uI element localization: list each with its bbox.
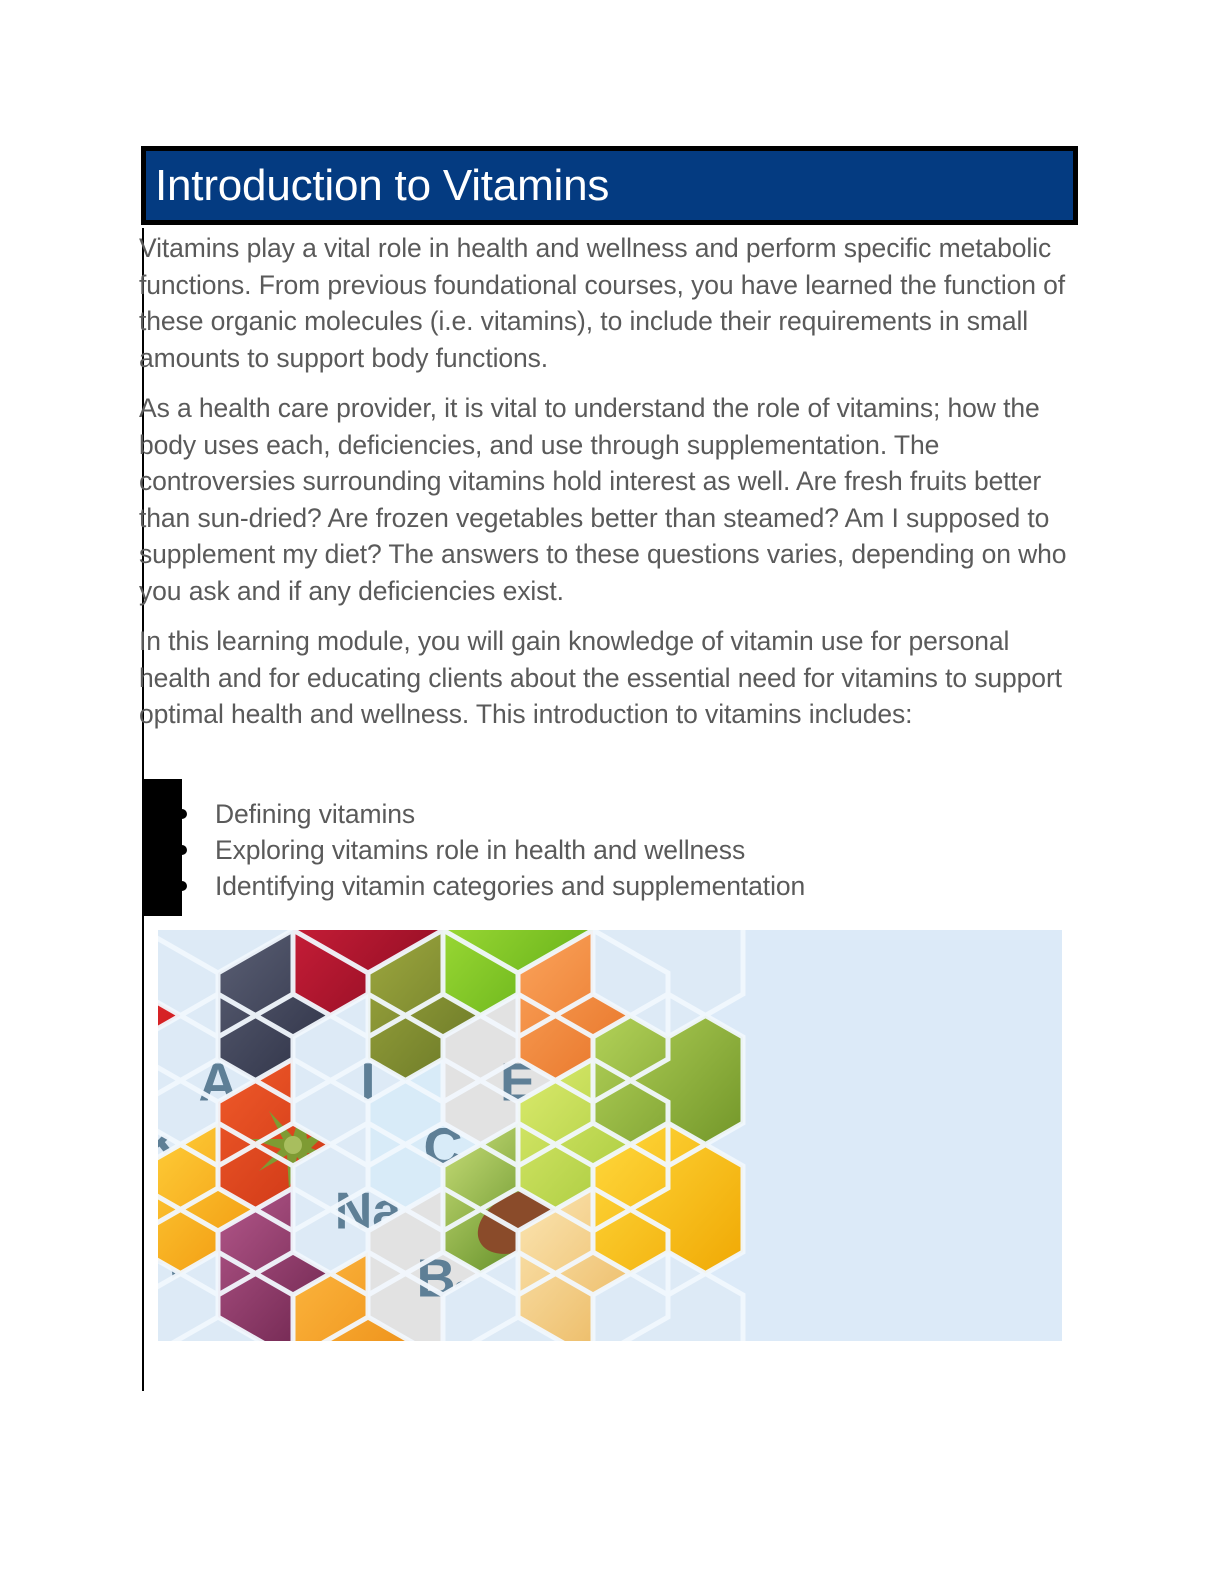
bullet-dot-icon	[177, 845, 187, 855]
list-item: Identifying vitamin categories and suppl…	[139, 868, 1079, 904]
vitamin-hexagon-collage-image: K D A	[158, 930, 1062, 1341]
bullet-dot-icon	[177, 809, 187, 819]
collage-svg: K D A	[158, 930, 1062, 1341]
topics-bullet-list: Defining vitamins Exploring vitamins rol…	[139, 796, 1079, 904]
list-item: Defining vitamins	[139, 796, 1079, 832]
paragraph-3: In this learning module, you will gain k…	[139, 623, 1079, 733]
paragraph-1: Vitamins play a vital role in health and…	[139, 230, 1079, 376]
list-item: Exploring vitamins role in health and we…	[139, 832, 1079, 868]
list-item-label: Defining vitamins	[215, 799, 415, 829]
paragraph-2: As a health care provider, it is vital t…	[139, 390, 1079, 609]
page-title-banner: Introduction to Vitamins	[141, 146, 1078, 225]
list-item-label: Identifying vitamin categories and suppl…	[215, 871, 805, 901]
page-title: Introduction to Vitamins	[146, 164, 609, 208]
list-item-label: Exploring vitamins role in health and we…	[215, 835, 745, 865]
body-text-column: Vitamins play a vital role in health and…	[139, 230, 1079, 733]
bullet-dot-icon	[177, 881, 187, 891]
document-page: Introduction to Vitamins Vitamins play a…	[0, 0, 1224, 1584]
